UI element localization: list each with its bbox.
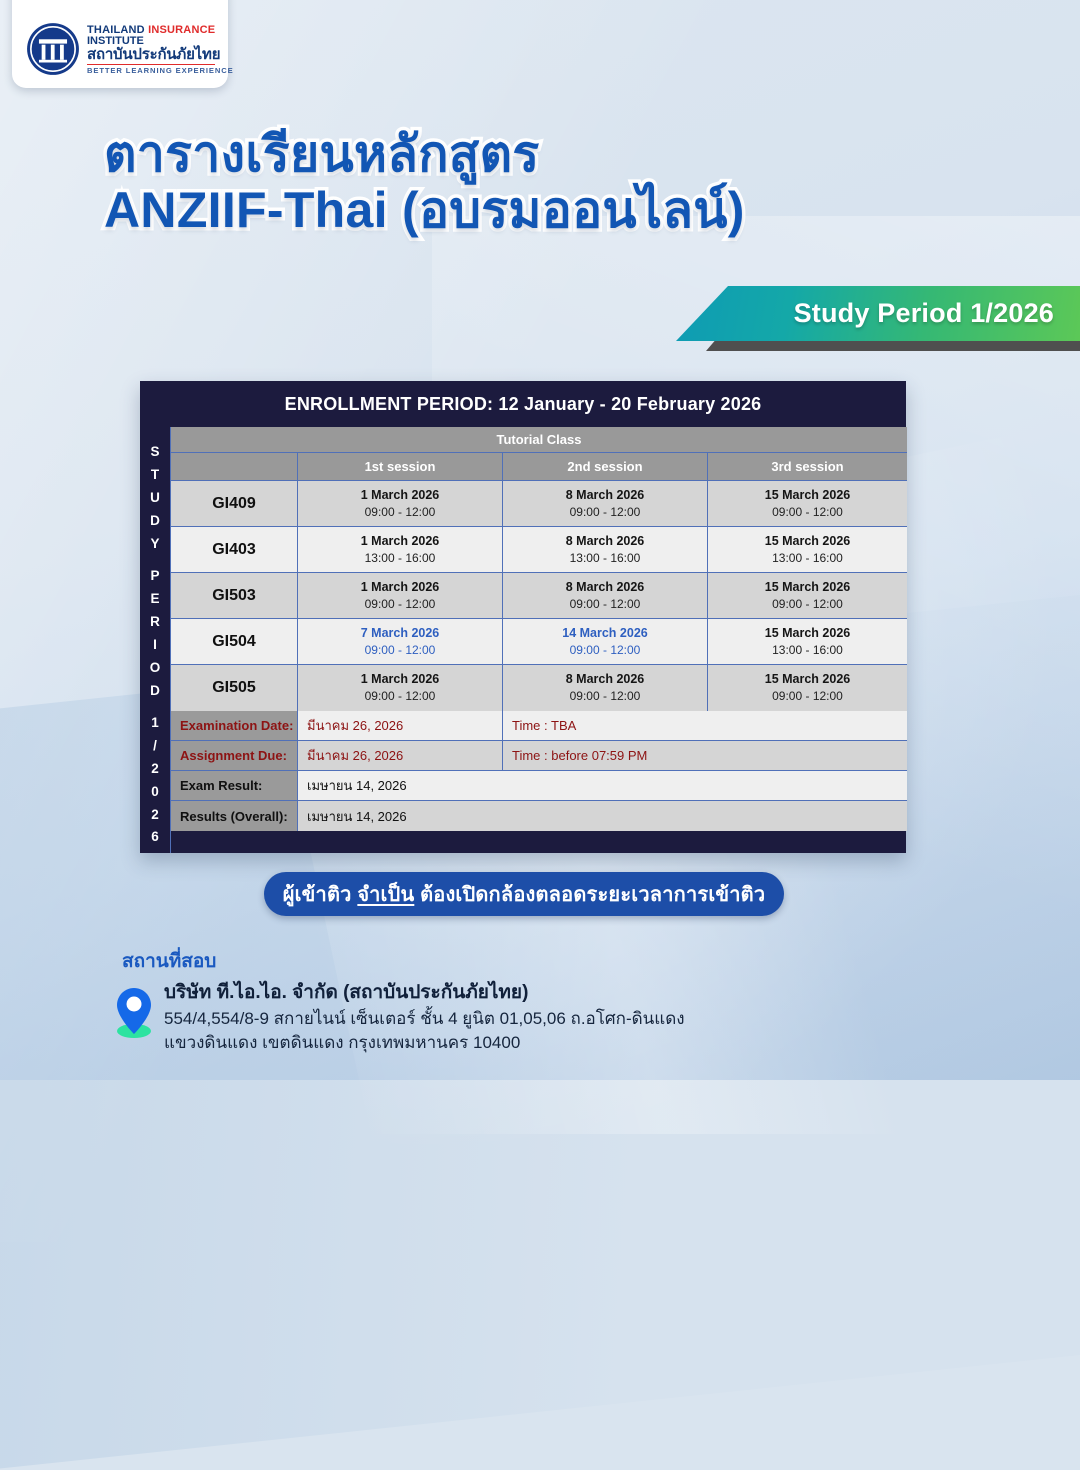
header-cell-code <box>171 453 298 480</box>
side-label-char: O <box>150 661 161 675</box>
notice-text-emphasis: จำเป็น <box>357 884 414 906</box>
session-date: 1 March 2026 <box>361 579 440 596</box>
side-label-char: Y <box>150 537 159 551</box>
study-period-label: Study Period 1/2026 <box>794 298 1054 329</box>
enrollment-period-title: ENROLLMENT PERIOD: 12 January - 20 Febru… <box>140 381 906 427</box>
header-cell-session-3: 3rd session <box>708 453 907 480</box>
side-label-char: R <box>150 615 160 629</box>
session-cell: 15 March 202613:00 - 16:00 <box>708 619 907 664</box>
course-code-cell: GI503 <box>171 573 298 618</box>
session-cell: 1 March 202609:00 - 12:00 <box>298 481 503 526</box>
session-cell: 15 March 202609:00 - 12:00 <box>708 665 907 711</box>
session-time: 09:00 - 12:00 <box>570 688 641 704</box>
header-cell-session-1: 1st session <box>298 453 503 480</box>
side-label-char: 0 <box>151 785 159 799</box>
session-time: 09:00 - 12:00 <box>365 596 436 612</box>
notice-text-after: ต้องเปิดกล้องตลอดระยะเวลาการเข้าติว <box>414 884 765 906</box>
study-period-side-label: STUDYPERIOD1/2026 <box>140 427 170 853</box>
side-label-char: P <box>150 569 159 583</box>
session-date: 15 March 2026 <box>765 671 850 688</box>
tutorial-class-header: Tutorial Class <box>171 427 907 453</box>
logo-badge: THAILAND INSURANCE INSTITUTE สถาบันประกั… <box>12 0 228 88</box>
venue-address-line-1: 554/4,554/8-9 สกายไนน์ เซ็นเตอร์ ชั้น 4 … <box>164 1007 685 1031</box>
camera-notice-banner: ผู้เข้าติว จำเป็น ต้องเปิดกล้องตลอดระยะเ… <box>264 872 784 916</box>
course-code-cell: GI403 <box>171 527 298 572</box>
venue-heading: สถานที่สอบ <box>122 946 872 976</box>
course-code: GI503 <box>212 587 256 605</box>
session-date: 15 March 2026 <box>765 625 850 642</box>
footer-row-date: เมษายน 14, 2026 <box>298 771 907 800</box>
table-footer-row: Examination Date:มีนาคม 26, 2026Time : T… <box>171 711 907 741</box>
notice-text-before: ผู้เข้าติว <box>283 884 358 906</box>
session-time: 09:00 - 12:00 <box>772 596 843 612</box>
session-cell: 8 March 202613:00 - 16:00 <box>503 527 708 572</box>
session-date: 1 March 2026 <box>361 533 440 550</box>
session-time: 09:00 - 12:00 <box>570 504 641 520</box>
course-code: GI505 <box>212 679 256 697</box>
session-date: 15 March 2026 <box>765 487 850 504</box>
schedule-rows: GI4091 March 202609:00 - 12:008 March 20… <box>171 481 907 711</box>
session-date: 1 March 2026 <box>361 487 440 504</box>
session-time: 09:00 - 12:00 <box>570 642 641 658</box>
schedule-grid: Tutorial Class 1st session 2nd session 3… <box>170 427 907 853</box>
footer-row-label: Examination Date: <box>171 711 298 740</box>
session-date: 15 March 2026 <box>765 579 850 596</box>
side-label-char: 6 <box>151 830 159 844</box>
session-cell: 1 March 202613:00 - 16:00 <box>298 527 503 572</box>
course-code-cell: GI409 <box>171 481 298 526</box>
session-cell: 15 March 202609:00 - 12:00 <box>708 481 907 526</box>
side-label-char: U <box>150 491 160 505</box>
table-row: GI5047 March 202609:00 - 12:0014 March 2… <box>171 619 907 665</box>
session-cell: 1 March 202609:00 - 12:00 <box>298 573 503 618</box>
session-time: 13:00 - 16:00 <box>772 550 843 566</box>
footer-row-label: Assignment Due: <box>171 741 298 770</box>
table-row: GI4031 March 202613:00 - 16:008 March 20… <box>171 527 907 573</box>
session-date: 8 March 2026 <box>566 579 645 596</box>
column-header-row: 1st session 2nd session 3rd session <box>171 453 907 481</box>
course-code: GI504 <box>212 633 256 651</box>
table-row: GI5031 March 202609:00 - 12:008 March 20… <box>171 573 907 619</box>
session-date: 14 March 2026 <box>562 625 647 642</box>
brand-divider <box>87 64 215 66</box>
side-label-char: D <box>150 514 160 528</box>
session-cell: 8 March 202609:00 - 12:00 <box>503 481 708 526</box>
location-pin-icon <box>112 984 156 1040</box>
session-date: 1 March 2026 <box>361 671 440 688</box>
course-code: GI403 <box>212 541 256 559</box>
session-date: 15 March 2026 <box>765 533 850 550</box>
study-period-banner-body: Study Period 1/2026 <box>676 286 1080 341</box>
footer-row-date: มีนาคม 26, 2026 <box>298 741 503 770</box>
brand-tagline: BETTER LEARNING EXPERIENCE <box>87 67 234 75</box>
table-row: GI5051 March 202609:00 - 12:008 March 20… <box>171 665 907 711</box>
session-cell: 8 March 202609:00 - 12:00 <box>503 665 708 711</box>
side-label-char: / <box>153 739 157 753</box>
study-period-banner: Study Period 1/2026 <box>676 286 1080 352</box>
session-time: 09:00 - 12:00 <box>772 504 843 520</box>
schedule-footer-rows: Examination Date:มีนาคม 26, 2026Time : T… <box>171 711 907 831</box>
session-date: 7 March 2026 <box>361 625 440 642</box>
table-footer-row: Results (Overall):เมษายน 14, 2026 <box>171 801 907 831</box>
side-label-char: D <box>150 684 160 698</box>
venue-address-line-2: แขวงดินแดง เขตดินแดง กรุงเทพมหานคร 10400 <box>164 1031 685 1055</box>
tii-logo-icon <box>26 22 80 76</box>
brand-thai-name: สถาบันประกันภัยไทย <box>87 47 234 62</box>
page-title: ตารางเรียนหลักสูตร ANZIIF-Thai (อบรมออนไ… <box>104 126 745 238</box>
session-cell: 1 March 202609:00 - 12:00 <box>298 665 503 711</box>
session-time: 09:00 - 12:00 <box>365 642 436 658</box>
side-label-char: T <box>151 468 159 482</box>
footer-row-label: Exam Result: <box>171 771 298 800</box>
side-label-char: I <box>153 638 157 652</box>
schedule-table: ENROLLMENT PERIOD: 12 January - 20 Febru… <box>140 381 906 853</box>
footer-row-time: Time : TBA <box>503 711 907 740</box>
footer-row-label: Results (Overall): <box>171 801 298 831</box>
header-cell-session-2: 2nd session <box>503 453 708 480</box>
table-footer-row: Exam Result:เมษายน 14, 2026 <box>171 771 907 801</box>
session-cell: 8 March 202609:00 - 12:00 <box>503 573 708 618</box>
side-label-char: S <box>150 445 159 459</box>
footer-row-date: มีนาคม 26, 2026 <box>298 711 503 740</box>
session-time: 09:00 - 12:00 <box>365 504 436 520</box>
session-date: 8 March 2026 <box>566 533 645 550</box>
page-title-line-1: ตารางเรียนหลักสูตร <box>104 126 540 182</box>
side-label-char: 2 <box>151 808 159 822</box>
venue-organization: บริษัท ที.ไอ.ไอ. จำกัด (สถาบันประกันภัยไ… <box>164 980 685 1007</box>
side-label-char: 1 <box>151 716 159 730</box>
session-cell: 15 March 202613:00 - 16:00 <box>708 527 907 572</box>
session-time: 13:00 - 16:00 <box>772 642 843 658</box>
session-date: 8 March 2026 <box>566 671 645 688</box>
table-footer-row: Assignment Due:มีนาคม 26, 2026Time : bef… <box>171 741 907 771</box>
page-title-line-2: ANZIIF-Thai (อบรมออนไลน์) <box>104 182 745 238</box>
session-time: 13:00 - 16:00 <box>365 550 436 566</box>
session-time: 09:00 - 12:00 <box>772 688 843 704</box>
side-label-char: E <box>150 592 159 606</box>
session-cell: 14 March 202609:00 - 12:00 <box>503 619 708 664</box>
session-date: 8 March 2026 <box>566 487 645 504</box>
camera-notice-text: ผู้เข้าติว จำเป็น ต้องเปิดกล้องตลอดระยะเ… <box>283 878 766 910</box>
side-label-char: 2 <box>151 762 159 776</box>
session-time: 09:00 - 12:00 <box>365 688 436 704</box>
session-time: 09:00 - 12:00 <box>570 596 641 612</box>
table-row: GI4091 March 202609:00 - 12:008 March 20… <box>171 481 907 527</box>
session-cell: 15 March 202609:00 - 12:00 <box>708 573 907 618</box>
session-time: 13:00 - 16:00 <box>570 550 641 566</box>
session-cell: 7 March 202609:00 - 12:00 <box>298 619 503 664</box>
exam-venue-footer: สถานที่สอบ บริษัท ที.ไอ.ไอ. จำกัด (สถาบั… <box>112 946 872 1055</box>
footer-row-date: เมษายน 14, 2026 <box>298 801 907 831</box>
course-code-cell: GI504 <box>171 619 298 664</box>
course-code: GI409 <box>212 495 256 513</box>
course-code-cell: GI505 <box>171 665 298 711</box>
footer-row-time: Time : before 07:59 PM <box>503 741 907 770</box>
